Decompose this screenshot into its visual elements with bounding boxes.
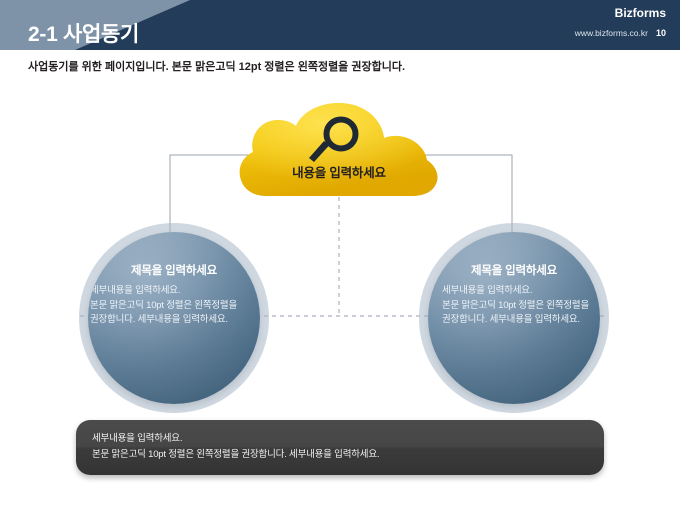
circle-title-left: 제목을 입력하세요 (88, 262, 260, 278)
bottom-note-line-2: 본문 맑은고딕 10pt 정렬은 왼쪽정렬을 권장합니다. 세부내용을 입력하세… (92, 447, 588, 463)
cloud-label: 내용을 입력하세요 (236, 162, 442, 181)
bottom-note-bar[interactable]: 세부내용을 입력하세요. 본문 맑은고딕 10pt 정렬은 왼쪽정렬을 권장합니… (76, 420, 604, 475)
circle-title-right: 제목을 입력하세요 (428, 262, 600, 278)
bottom-note-line-1: 세부내용을 입력하세요. (92, 431, 588, 447)
brand-url: www.bizforms.co.kr (575, 28, 648, 38)
brand-url-row: www.bizforms.co.kr10 (575, 23, 666, 41)
brand-block: Bizforms www.bizforms.co.kr10 (575, 7, 666, 41)
cloud-shape[interactable]: 내용을 입력하세요 (236, 100, 442, 204)
cloud-svg (236, 100, 442, 204)
circle-node-right[interactable]: 제목을 입력하세요 세부내용을 입력하세요. 본문 맑은고딕 10pt 정렬은 … (428, 232, 600, 404)
slide-subtitle: 사업동기를 위한 페이지입니다. 본문 맑은고딕 12pt 정렬은 왼쪽정렬을 … (28, 58, 405, 74)
circle-body-right: 세부내용을 입력하세요. 본문 맑은고딕 10pt 정렬은 왼쪽정렬을 권장합니… (428, 284, 600, 328)
slide-header: 2-1 사업동기 Bizforms www.bizforms.co.kr10 (0, 0, 680, 50)
circle-body-left: 세부내용을 입력하세요. 본문 맑은고딕 10pt 정렬은 왼쪽정렬을 권장합니… (88, 284, 260, 328)
slide-canvas: 2-1 사업동기 Bizforms www.bizforms.co.kr10 사… (0, 0, 680, 510)
page-title: 2-1 사업동기 (28, 18, 139, 48)
circle-node-left[interactable]: 제목을 입력하세요 세부내용을 입력하세요. 본문 맑은고딕 10pt 정렬은 … (88, 232, 260, 404)
page-number: 10 (656, 28, 666, 38)
brand-name: Bizforms (575, 7, 666, 21)
